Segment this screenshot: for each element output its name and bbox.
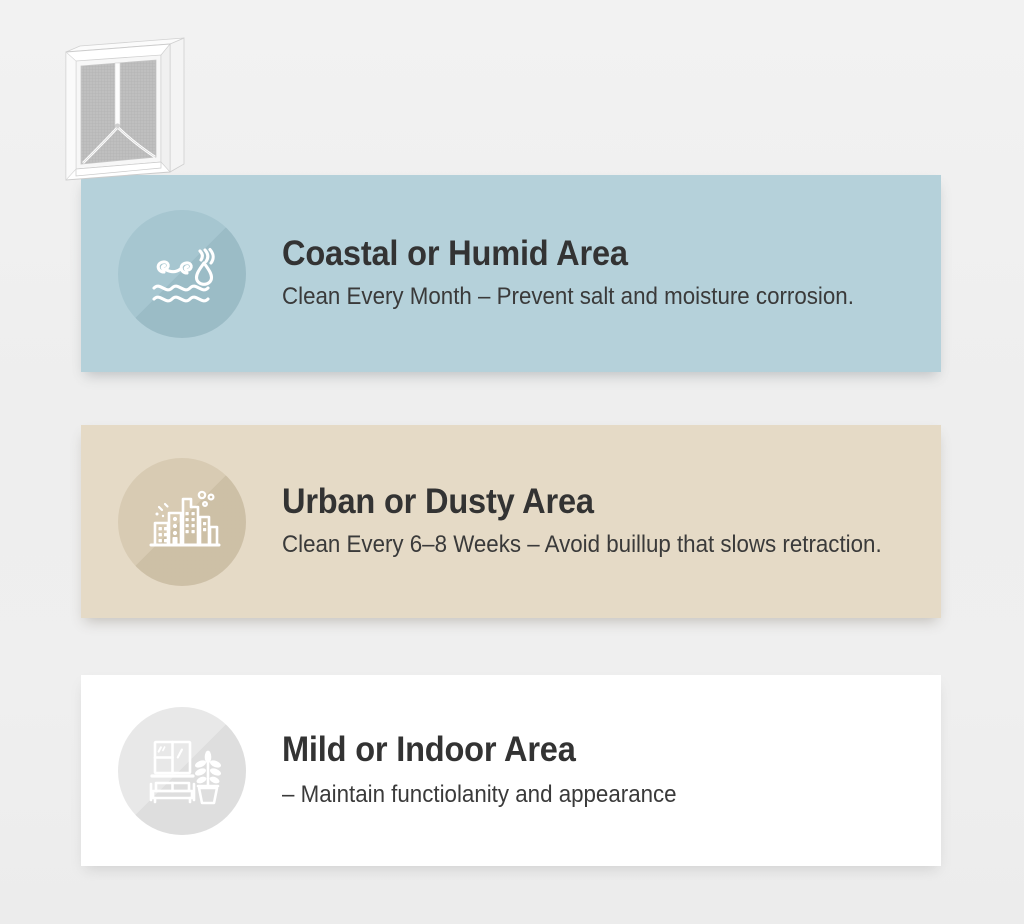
banner-text-urban-dusty: Urban or Dusty Area Clean Every 6–8 Week… [282, 483, 939, 560]
banner-mild-indoor[interactable]: Mild or Indoor Area – Maintain functiola… [81, 675, 941, 866]
banner-urban-dusty[interactable]: Urban or Dusty Area Clean Every 6–8 Week… [81, 425, 941, 618]
retractable-window-screen-illustration [62, 36, 198, 188]
banner-title: Coastal or Humid Area [282, 235, 854, 273]
waves-humidity-icon [143, 235, 221, 313]
badge-urban-dusty [118, 458, 246, 586]
banner-coastal-humid[interactable]: Coastal or Humid Area Clean Every Month … [81, 175, 941, 372]
banner-title: Mild or Indoor Area [282, 731, 677, 769]
badge-mild-indoor [118, 707, 246, 835]
indoor-sofa-window-plant-icon [143, 732, 221, 810]
banner-title: Urban or Dusty Area [282, 483, 882, 521]
banner-subtitle: Clean Every Month – Prevent salt and moi… [282, 283, 854, 312]
banner-text-coastal-humid: Coastal or Humid Area Clean Every Month … [282, 235, 909, 312]
banner-subtitle: – Maintain functiolanity and appearance [282, 781, 677, 810]
banner-subtitle: Clean Every 6–8 Weeks – Avoid buillup th… [282, 531, 882, 560]
banner-text-mild-indoor: Mild or Indoor Area – Maintain functiola… [282, 731, 718, 810]
badge-coastal-humid [118, 210, 246, 338]
city-buildings-dust-icon [143, 483, 221, 561]
